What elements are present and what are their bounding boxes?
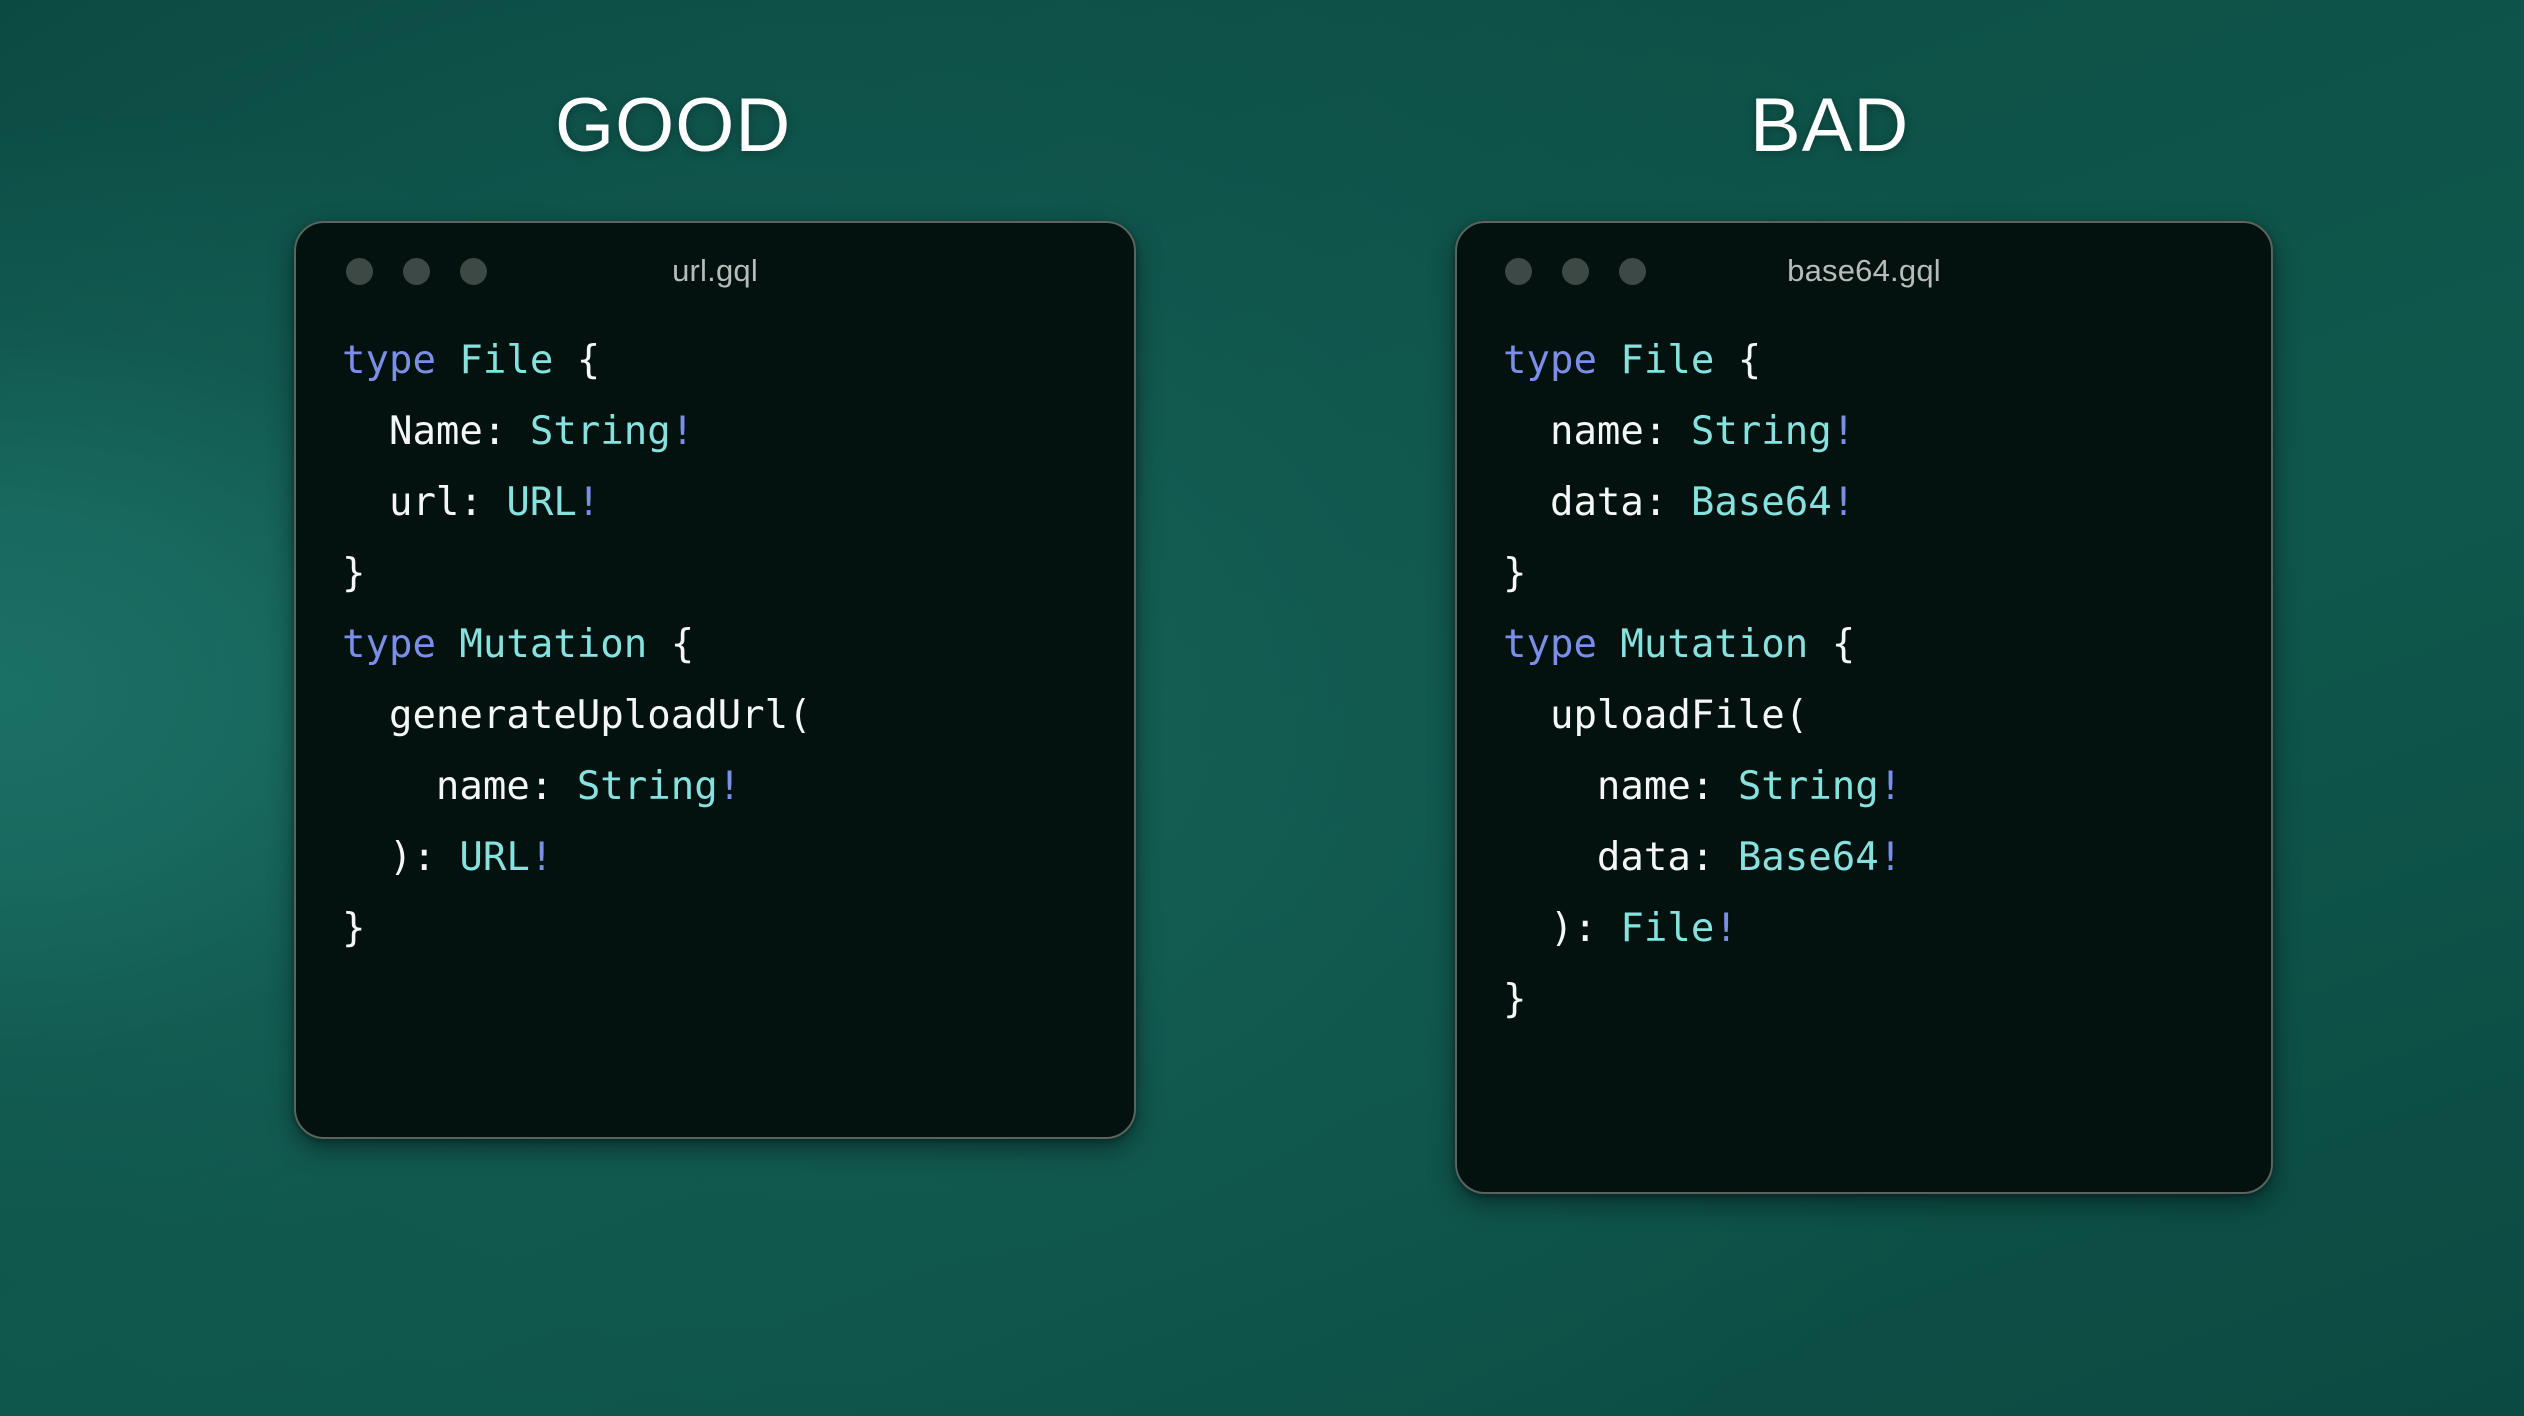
code-line: generateUploadUrl(: [342, 680, 1134, 751]
comparison-stage: GOOD url.gql type File { Name: String! u…: [0, 0, 2524, 1416]
panel-title-bad: BAD: [1750, 88, 1909, 164]
code-token: data:: [1503, 480, 1691, 525]
code-line: name: String!: [1503, 751, 2271, 822]
window-title-bar: url.gql: [296, 223, 1134, 319]
code-token: !: [1879, 764, 1902, 809]
code-line: type File {: [342, 325, 1134, 396]
code-token: {: [1808, 622, 1855, 667]
code-token: String: [530, 409, 671, 454]
code-line: type File {: [1503, 325, 2271, 396]
code-line: ): File!: [1503, 893, 2271, 964]
code-token: URL: [506, 480, 576, 525]
code-token: }: [342, 906, 365, 951]
code-token: File: [459, 338, 553, 383]
code-token: !: [671, 409, 694, 454]
code-line: type Mutation {: [342, 609, 1134, 680]
code-token: URL: [459, 835, 529, 880]
code-token: uploadFile(: [1503, 693, 1808, 738]
code-line: data: Base64!: [1503, 822, 2271, 893]
code-line: name: String!: [1503, 396, 2271, 467]
code-token: File: [1620, 338, 1714, 383]
code-token: type: [342, 338, 436, 383]
zoom-dot-icon[interactable]: [460, 258, 487, 285]
code-token: }: [1503, 551, 1526, 596]
code-token: type: [1503, 622, 1597, 667]
code-token: Base64: [1691, 480, 1832, 525]
code-block-good: type File { Name: String! url: URL!}type…: [296, 319, 1134, 964]
code-token: name:: [1503, 764, 1738, 809]
window-controls: [1505, 258, 1646, 285]
code-token: [1597, 338, 1620, 383]
code-line: }: [342, 893, 1134, 964]
code-token: name:: [1503, 409, 1691, 454]
minimize-dot-icon[interactable]: [1562, 258, 1589, 285]
code-block-bad: type File { name: String! data: Base64!}…: [1457, 319, 2271, 1035]
code-line: Name: String!: [342, 396, 1134, 467]
code-token: {: [1714, 338, 1761, 383]
code-token: type: [1503, 338, 1597, 383]
code-token: String: [577, 764, 718, 809]
close-dot-icon[interactable]: [1505, 258, 1532, 285]
panel-title-good: GOOD: [555, 88, 791, 164]
code-token: generateUploadUrl(: [342, 693, 812, 738]
minimize-dot-icon[interactable]: [403, 258, 430, 285]
code-line: ): URL!: [342, 822, 1134, 893]
code-line: data: Base64!: [1503, 467, 2271, 538]
code-token: !: [577, 480, 600, 525]
code-token: File: [1620, 906, 1714, 951]
code-token: type: [342, 622, 436, 667]
code-token: !: [1832, 480, 1855, 525]
code-token: [436, 622, 459, 667]
code-token: {: [553, 338, 600, 383]
code-token: Base64: [1738, 835, 1879, 880]
code-window-good: url.gql type File { Name: String! url: U…: [294, 221, 1136, 1139]
code-token: url:: [342, 480, 506, 525]
code-token: }: [1503, 977, 1526, 1022]
code-token: Mutation: [459, 622, 647, 667]
code-token: String: [1691, 409, 1832, 454]
zoom-dot-icon[interactable]: [1619, 258, 1646, 285]
close-dot-icon[interactable]: [346, 258, 373, 285]
code-token: !: [530, 835, 553, 880]
code-token: ):: [342, 835, 459, 880]
code-token: Name:: [342, 409, 530, 454]
code-line: }: [1503, 964, 2271, 1035]
code-token: Mutation: [1620, 622, 1808, 667]
code-token: data:: [1503, 835, 1738, 880]
window-title-bar: base64.gql: [1457, 223, 2271, 319]
code-line: type Mutation {: [1503, 609, 2271, 680]
code-token: name:: [342, 764, 577, 809]
code-window-bad: base64.gql type File { name: String! dat…: [1455, 221, 2273, 1194]
code-token: !: [1879, 835, 1902, 880]
code-token: [1597, 622, 1620, 667]
code-line: uploadFile(: [1503, 680, 2271, 751]
code-line: }: [1503, 538, 2271, 609]
code-token: !: [718, 764, 741, 809]
code-token: !: [1832, 409, 1855, 454]
code-token: ):: [1503, 906, 1620, 951]
code-line: }: [342, 538, 1134, 609]
code-token: !: [1714, 906, 1737, 951]
window-controls: [346, 258, 487, 285]
code-token: String: [1738, 764, 1879, 809]
code-line: name: String!: [342, 751, 1134, 822]
code-token: [436, 338, 459, 383]
code-token: {: [647, 622, 694, 667]
code-token: }: [342, 551, 365, 596]
code-line: url: URL!: [342, 467, 1134, 538]
